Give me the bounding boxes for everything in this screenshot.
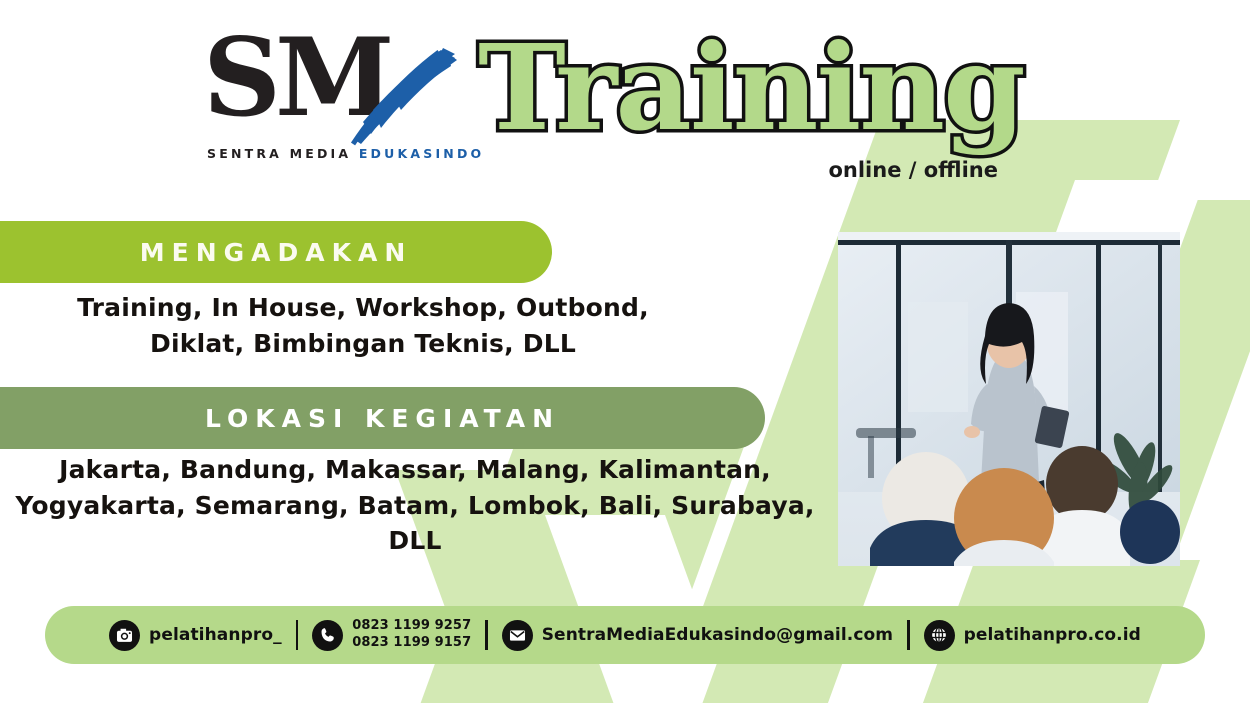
phone-number-secondary: 0823 1199 9157: [352, 635, 471, 650]
section-banner-lokasi-kegiatan: LOKASI KEGIATAN: [0, 387, 765, 449]
section-body-line: Yogyakarta, Semarang, Batam, Lombok, Bal…: [0, 488, 830, 559]
globe-icon[interactable]: [924, 620, 955, 651]
logo-wordmark: SENTRA MEDIA EDUKASINDO: [207, 146, 484, 161]
open-book-icon: [351, 44, 459, 152]
page-title: Training: [478, 30, 1018, 146]
training-promo-poster: SM SENTRA MEDIA EDUKASINDO Training onli…: [0, 0, 1250, 703]
phone-numbers: 0823 1199 9257 0823 1199 9157: [352, 618, 471, 651]
contact-instagram[interactable]: pelatihanpro_: [109, 620, 282, 651]
section-body-mengadakan: Training, In House, Workshop, Outbond, D…: [0, 290, 726, 361]
section-banner-label: LOKASI KEGIATAN: [205, 404, 560, 433]
contact-divider: [485, 620, 488, 650]
contact-footer-bar: pelatihanpro_ 0823 1199 9257 0823 1199 9…: [45, 606, 1205, 664]
contact-website[interactable]: pelatihanpro.co.id: [924, 620, 1141, 651]
section-banner-label: MENGADAKAN: [140, 238, 413, 267]
phone-number-primary: 0823 1199 9257: [352, 618, 471, 633]
section-banner-mengadakan: MENGADAKAN: [0, 221, 552, 283]
section-body-line: Jakarta, Bandung, Makassar, Malang, Kali…: [0, 452, 830, 488]
logo-wordmark-secondary: EDUKASINDO: [359, 146, 485, 161]
envelope-icon[interactable]: [502, 620, 533, 651]
section-body-line: Diklat, Bimbingan Teknis, DLL: [0, 326, 726, 362]
poster-header: SM SENTRA MEDIA EDUKASINDO Training onli…: [0, 0, 1250, 200]
training-session-photo: [838, 232, 1180, 566]
contact-phone[interactable]: 0823 1199 9257 0823 1199 9157: [312, 618, 471, 651]
phone-icon[interactable]: [312, 620, 343, 651]
section-body-line: Training, In House, Workshop, Outbond,: [0, 290, 726, 326]
logo-wordmark-primary: SENTRA MEDIA: [207, 146, 359, 161]
instagram-handle: pelatihanpro_: [149, 625, 282, 645]
section-body-lokasi-kegiatan: Jakarta, Bandung, Makassar, Malang, Kali…: [0, 452, 830, 559]
contact-divider: [296, 620, 299, 650]
company-logo: SM SENTRA MEDIA EDUKASINDO: [203, 38, 463, 166]
email-address: SentraMediaEdukasindo@gmail.com: [542, 625, 893, 645]
contact-divider: [907, 620, 910, 650]
website-url: pelatihanpro.co.id: [964, 625, 1141, 645]
logo-mark: SM: [203, 38, 463, 138]
contact-email[interactable]: SentraMediaEdukasindo@gmail.com: [502, 620, 893, 651]
instagram-icon[interactable]: [109, 620, 140, 651]
page-subtitle: online / offline: [828, 158, 998, 182]
title-block: Training online / offline: [478, 30, 1018, 190]
